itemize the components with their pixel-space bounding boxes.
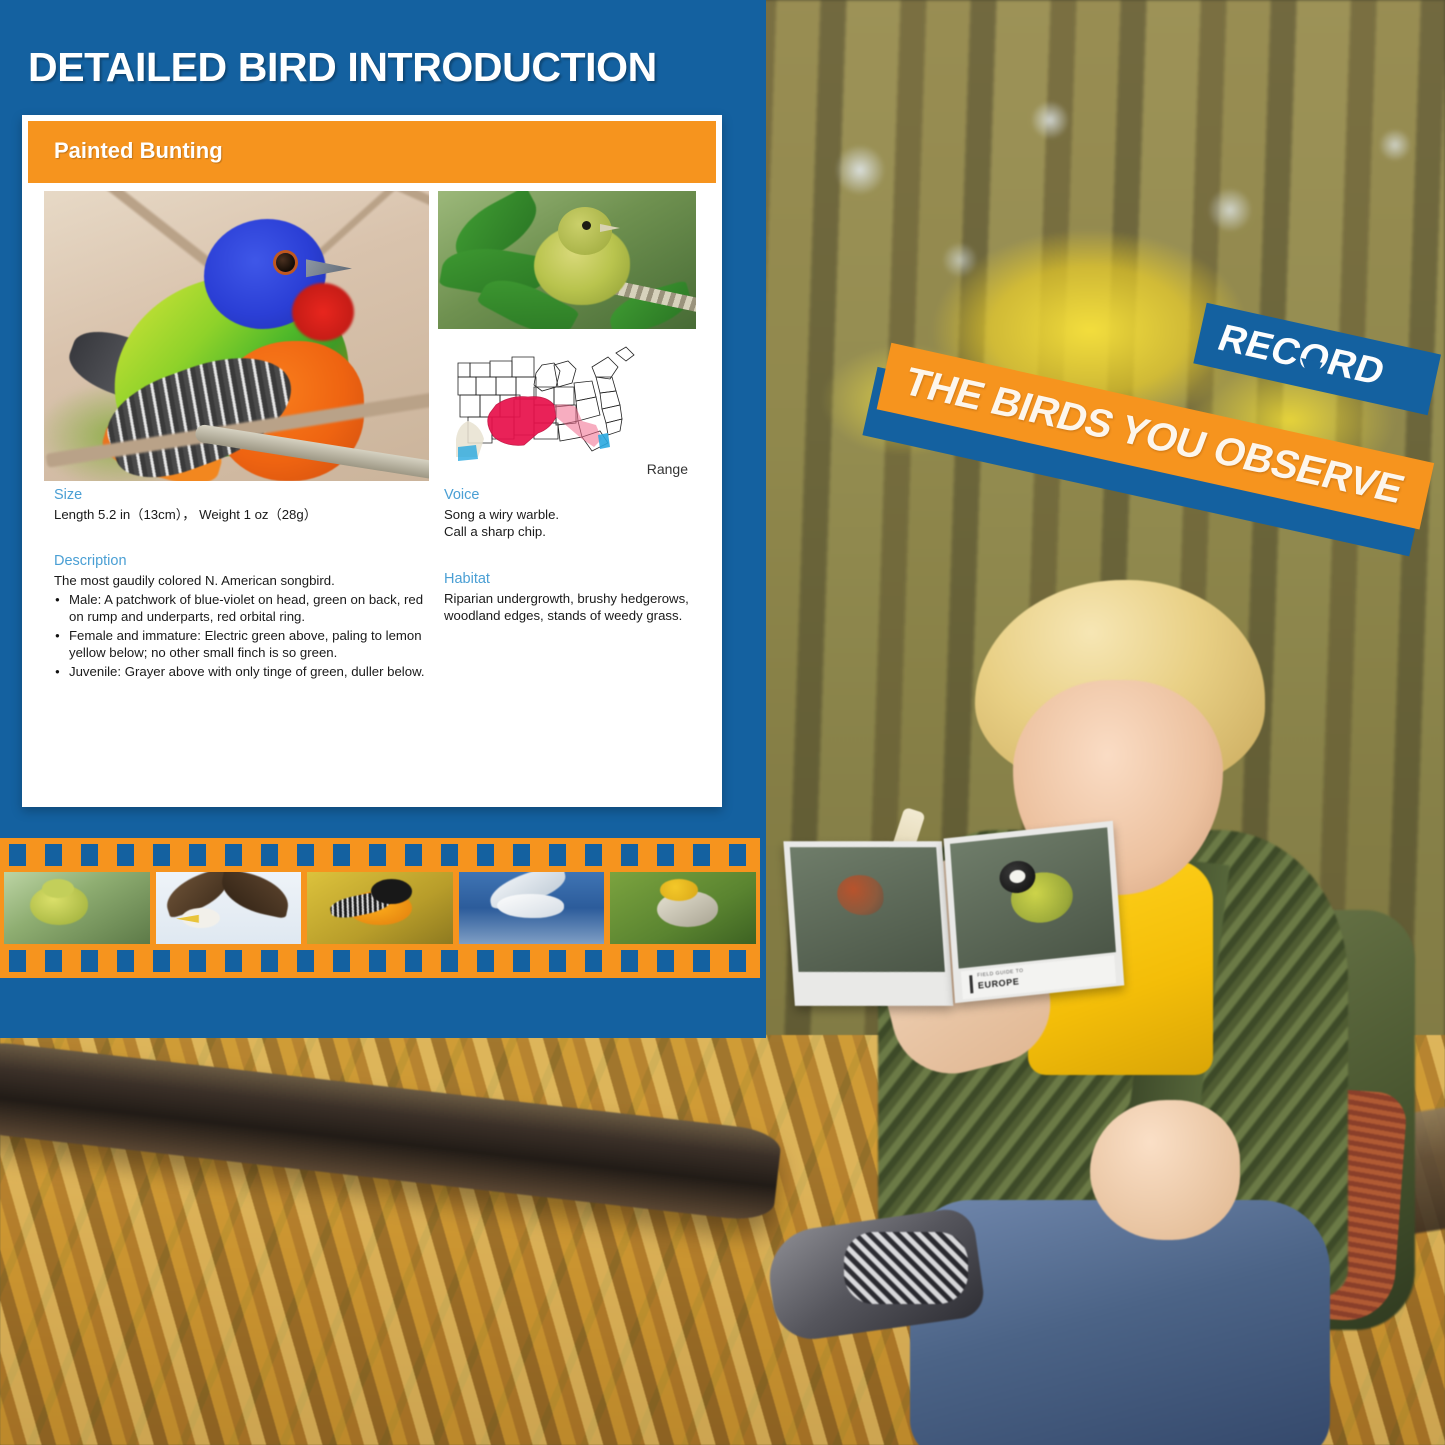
description-bullet-list: Male: A patchwork of blue-violet on head… — [54, 591, 432, 680]
book-page-right-photo — [950, 827, 1116, 968]
voice-heading: Voice — [444, 487, 696, 503]
filmstrip-frame-4 — [459, 872, 605, 944]
range-winter-area-west — [458, 445, 478, 461]
list-item: Male: A patchwork of blue-violet on head… — [54, 591, 432, 626]
open-field-guide-book: FIELD GUIDE TO EUROPE — [784, 824, 1126, 1037]
bird-head-shape — [42, 879, 74, 898]
oriole-head-shape — [660, 879, 698, 901]
child-shoe-pattern — [844, 1232, 968, 1304]
product-infographic: FIELD GUIDE TO EUROPE DETAILED BIRD INTR… — [0, 0, 1445, 1445]
species-name: Painted Bunting — [54, 138, 223, 164]
details-right-column: Voice Song a wiry warble. Call a sharp c… — [444, 487, 696, 625]
book-page-left — [783, 841, 953, 1006]
male-bunting-photo — [44, 191, 429, 481]
range-breeding-area — [488, 397, 556, 446]
range-map-svg — [450, 343, 650, 463]
caption-rule — [969, 975, 973, 993]
range-map: Range — [438, 341, 696, 481]
info-panel: DETAILED BIRD INTRODUCTION Painted Bunti… — [0, 0, 766, 1038]
book-page-right: FIELD GUIDE TO EUROPE — [944, 821, 1125, 1003]
voice-line-1: Song a wiry warble. — [444, 506, 696, 523]
species-media-row: Range — [28, 183, 716, 481]
book-page-left-photo — [790, 847, 945, 972]
list-item: Juvenile: Grayer above with only tinge o… — [54, 663, 432, 680]
female-bunting-eye — [582, 221, 591, 230]
species-card-header: Painted Bunting — [28, 121, 716, 183]
female-bunting-photo — [438, 191, 696, 329]
range-map-label: Range — [647, 461, 688, 477]
filmstrip-perforations-bottom — [0, 950, 760, 972]
voice-line-2: Call a sharp chip. — [444, 523, 696, 540]
filmstrip-frame-1 — [4, 872, 150, 944]
book-guide-region: EUROPE — [978, 976, 1020, 990]
species-details: Size Length 5.2 in（13cm）， Weight 1 oz（28… — [28, 487, 716, 809]
filmstrip-frame-3 — [307, 872, 453, 944]
range-winter-area — [598, 433, 610, 449]
description-heading: Description — [54, 553, 432, 569]
child-reading-photo: FIELD GUIDE TO EUROPE — [760, 560, 1445, 1320]
details-left-column: Size Length 5.2 in（13cm）， Weight 1 oz（28… — [54, 487, 432, 681]
filmstrip-perforations-top — [0, 844, 760, 866]
marketing-banner: RECORD THE BIRDS YOU OBSERVE — [860, 300, 1440, 470]
spacer — [54, 523, 432, 553]
filmstrip-frame-2 — [156, 872, 302, 944]
habitat-text: Riparian undergrowth, brushy hedgerows, … — [444, 590, 696, 625]
spacer — [444, 541, 696, 571]
habitat-heading: Habitat — [444, 571, 696, 587]
eagle-wing-shape — [217, 872, 293, 919]
record-tag: RECORD — [1193, 303, 1441, 415]
bunting-throat — [292, 283, 354, 341]
size-text: Length 5.2 in（13cm）， Weight 1 oz（28g） — [54, 506, 432, 523]
species-card: Painted Bunting — [22, 115, 722, 807]
filmstrip-frames — [0, 872, 760, 944]
list-item: Female and immature: Electric green abov… — [54, 627, 432, 662]
description-intro: The most gaudily colored N. American son… — [54, 572, 432, 589]
gull-body-shape — [497, 894, 564, 918]
filmstrip — [0, 838, 760, 978]
robin-photo — [836, 875, 885, 915]
size-heading: Size — [54, 487, 432, 503]
filmstrip-frame-5 — [610, 872, 756, 944]
child-right-hand — [1090, 1100, 1240, 1240]
page-title: DETAILED BIRD INTRODUCTION — [28, 44, 738, 91]
bunting-eye — [276, 253, 295, 272]
oriole-head-shape — [371, 879, 412, 903]
